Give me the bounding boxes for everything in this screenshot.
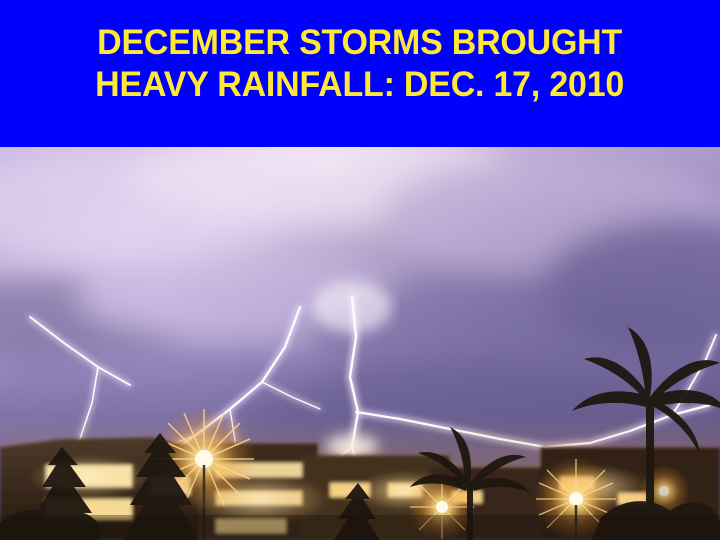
slide-root: DECEMBER STORMS BROUGHT HEAVY RAINFALL: … — [0, 0, 720, 540]
storm-photo — [0, 147, 720, 540]
storm-photo-artwork — [0, 147, 720, 540]
page-title-line-2: HEAVY RAINFALL: DEC. 17, 2010 — [96, 64, 625, 106]
page-title-line-1: DECEMBER STORMS BROUGHT — [98, 22, 623, 64]
title-banner: DECEMBER STORMS BROUGHT HEAVY RAINFALL: … — [0, 0, 720, 147]
